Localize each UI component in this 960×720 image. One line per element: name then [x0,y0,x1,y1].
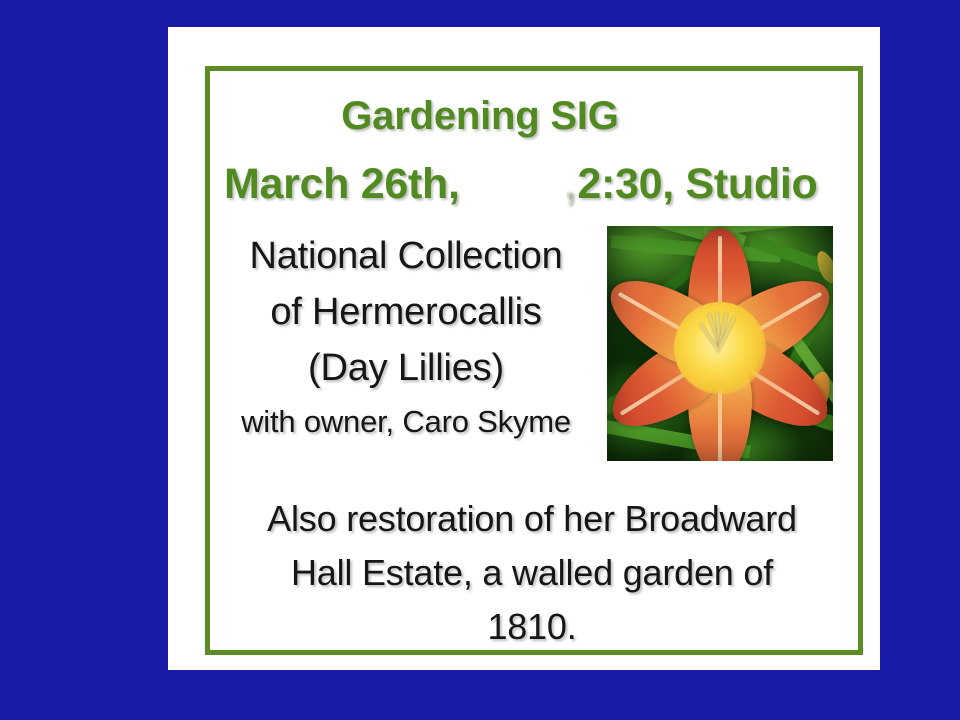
event-time-venue: 2:30, Studio [577,163,817,206]
extra-line-1: Also restoration of her Broadward [216,492,848,546]
event-extra-paragraph: Also restoration of her Broadward Hall E… [216,492,848,654]
photo-vignette [607,226,833,461]
description-line-2: of Hermerocallis [210,284,602,340]
event-datetime-line: March 26th, , 2:30, Studio [224,163,824,206]
slide-canvas: Gardening SIG March 26th, , 2:30, Studio… [0,0,960,720]
event-description-block: National Collection of Hermerocallis (Da… [210,228,602,441]
extra-line-2: Hall Estate, a walled garden of [216,546,848,600]
daylily-photo [607,226,833,461]
faint-comma-glyph: , [460,163,578,206]
description-line-3: (Day Lillies) [210,340,602,396]
description-line-1: National Collection [210,228,602,284]
event-date: March 26th, [224,163,460,206]
extra-line-3: 1810. [216,600,848,654]
page-title: Gardening SIG [0,96,960,136]
speaker-credit: with owner, Caro Skyme [210,403,602,442]
